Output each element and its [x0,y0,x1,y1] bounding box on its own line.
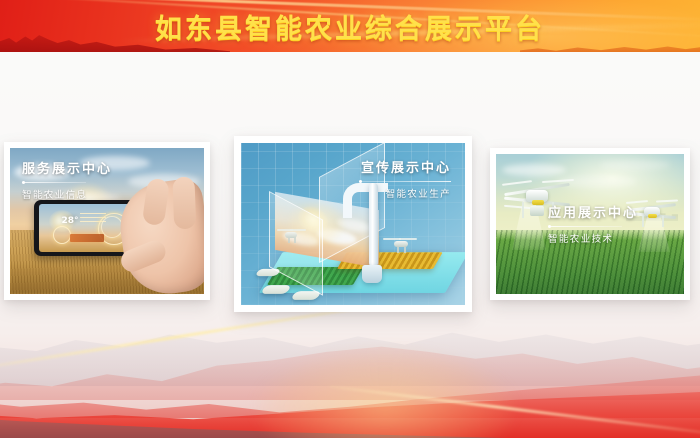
water-bucket-icon [362,265,382,283]
drone-leg [662,216,664,227]
drone-leg [288,237,290,243]
hud-temperature: 28° [62,216,79,226]
card-publicity-center-image: 宣传展示中心 智能农业生产 [241,143,465,305]
divider-dot-icon [359,180,362,183]
card-service-center[interactable]: 28° 服务展示中心 智能农业信息 [4,142,210,300]
hud-ring-small-icon [53,226,71,244]
drone-icon [383,235,417,251]
card-application-center-text: 应用展示中心 智能农业技术 [548,202,638,245]
rotor-icon [399,238,417,240]
title-divider [548,226,622,227]
card-publicity-center[interactable]: 宣传展示中心 智能农业生产 [234,136,472,312]
rotor-icon [290,229,306,231]
card-service-center-image: 28° 服务展示中心 智能农业信息 [10,148,204,294]
card-title: 服务展示中心 [22,158,112,177]
card-title: 应用展示中心 [548,202,638,221]
finger-icon [172,177,196,230]
divider-dot-icon [548,225,551,228]
card-service-center-text: 服务展示中心 智能农业信息 [22,158,112,201]
drone-icon [277,227,307,241]
drone-nozzle-icon [648,214,657,218]
divider-dot-icon [22,181,25,184]
rotor-icon [656,199,678,202]
hud-ring-inner-icon [101,216,123,238]
rotor-icon [504,205,532,209]
drone-leg [397,247,399,253]
drone-leg [404,247,406,253]
card-subtitle: 智能农业生产 [359,186,451,200]
page-title: 如东县智能农业综合展示平台 [0,0,700,52]
card-title: 宣传展示中心 [359,157,451,176]
card-application-center[interactable]: 应用展示中心 智能农业技术 [490,148,690,300]
card-subtitle: 智能农业信息 [22,187,112,201]
card-publicity-center-text: 宣传展示中心 智能农业生产 [359,157,451,200]
card-application-center-image: 应用展示中心 智能农业技术 [496,154,684,294]
cloud-icon [600,160,670,170]
thumb-icon [118,237,169,275]
drone-leg [294,237,296,243]
drone-leg [522,202,524,218]
title-divider [22,182,86,183]
card-subtitle: 智能农业技术 [548,231,638,245]
drone-leg [642,216,644,227]
hud-info-chip-icon [70,234,104,242]
app-root: 如东县智能农业综合展示平台 28° [0,0,700,438]
title-divider [359,181,451,182]
cloud-icon [502,164,566,176]
spray-tank-icon [530,206,544,216]
rotor-icon [502,180,532,186]
drone-nozzle-icon [532,200,544,205]
